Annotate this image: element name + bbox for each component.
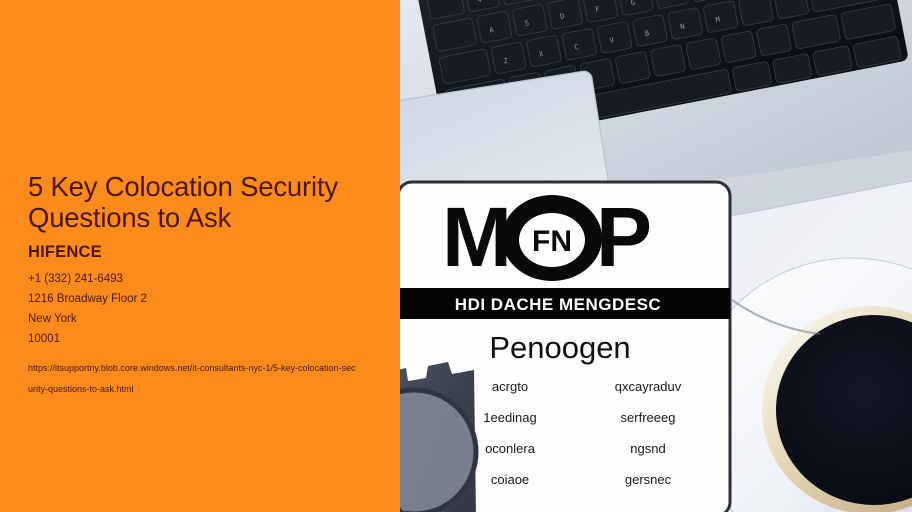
photo-illustration: ~12 345 678 90- QWE RTY UIO P ASD FGH JK… [400, 0, 912, 512]
card-logo-right: P [596, 190, 652, 284]
svg-text:1eedinag: 1eedinag [483, 410, 537, 425]
photo-panel: ~12 345 678 90- QWE RTY UIO P ASD FGH JK… [400, 0, 912, 512]
address-city: New York [28, 309, 378, 329]
card-subtitle: Penoogen [489, 330, 630, 365]
svg-text:oconlera: oconlera [485, 441, 536, 456]
svg-text:coiaoe: coiaoe [491, 472, 529, 487]
text-stack: 5 Key Colocation Security Questions to A… [28, 172, 378, 400]
left-orange-panel: 5 Key Colocation Security Questions to A… [0, 0, 400, 512]
svg-text:acrgto: acrgto [492, 379, 528, 394]
brand-name: HIFENCE [28, 243, 378, 262]
card-logo-left: M [442, 190, 512, 284]
svg-text:FN: FN [532, 225, 572, 258]
document-card: M FN P HDI DACHE MENGDESC Penoogen [400, 182, 730, 512]
bracket-graphic [400, 362, 476, 512]
phone-number: +1 (332) 241-6493 [28, 269, 378, 289]
page-title: 5 Key Colocation Security Questions to A… [28, 172, 378, 233]
svg-text:qxcayraduv: qxcayraduv [615, 379, 682, 394]
address-street: 1216 Broadway Floor 2 [28, 289, 378, 309]
address-zip: 10001 [28, 329, 378, 349]
svg-text:ngsnd: ngsnd [630, 441, 665, 456]
svg-text:serfreeeg: serfreeeg [621, 410, 676, 425]
card-logo-badge: FN [502, 195, 602, 281]
slide-root: 5 Key Colocation Security Questions to A… [0, 0, 912, 512]
source-url[interactable]: https://itsupportny.blob.core.windows.ne… [28, 358, 358, 400]
svg-text:gersnec: gersnec [625, 472, 672, 487]
card-banner-text: HDI DACHE MENGDESC [455, 295, 661, 314]
